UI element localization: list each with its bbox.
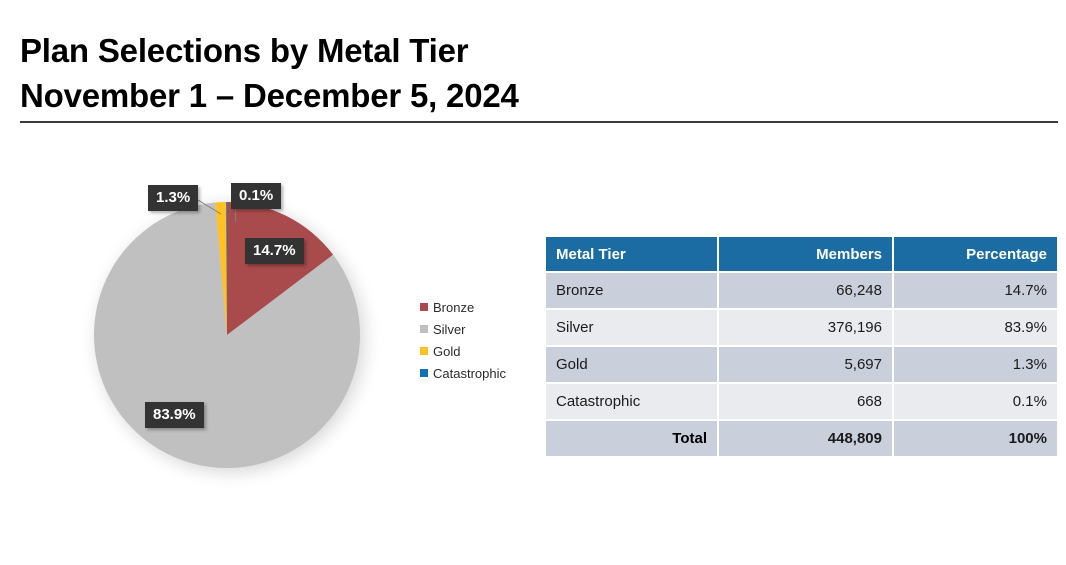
- pie-label-gold: 1.3%: [148, 185, 198, 211]
- table-header-metal-tier: Metal Tier: [546, 237, 719, 273]
- legend-item-catastrophic: Catastrophic: [420, 362, 530, 384]
- cell-members: 5,697: [719, 347, 894, 384]
- pie-chart: [80, 186, 380, 486]
- legend-swatch-bronze: [420, 303, 428, 311]
- cell-percentage: 83.9%: [894, 310, 1057, 347]
- pie-slice-group: [94, 202, 360, 468]
- cell-members: 66,248: [719, 273, 894, 310]
- legend-swatch-gold: [420, 347, 428, 355]
- legend-swatch-catastrophic: [420, 369, 428, 377]
- table-row-total: Total448,809100%: [546, 421, 1057, 456]
- cell-total-percentage: 100%: [894, 421, 1057, 456]
- cell-members: 668: [719, 384, 894, 421]
- table-row: Bronze66,24814.7%: [546, 273, 1057, 310]
- cell-total-label: Total: [546, 421, 719, 456]
- cell-metal-tier: Silver: [546, 310, 719, 347]
- metal-tier-table: Metal Tier Members Percentage Bronze66,2…: [546, 237, 1057, 456]
- legend-label-catastrophic: Catastrophic: [433, 366, 506, 381]
- legend-item-bronze: Bronze: [420, 296, 530, 318]
- pie-chart-svg: [80, 186, 380, 486]
- pie-label-catastrophic: 0.1%: [231, 183, 281, 209]
- table-row: Gold5,6971.3%: [546, 347, 1057, 384]
- legend-item-gold: Gold: [420, 340, 530, 362]
- cell-percentage: 14.7%: [894, 273, 1057, 310]
- cell-metal-tier: Gold: [546, 347, 719, 384]
- table-body: Bronze66,24814.7%Silver376,19683.9%Gold5…: [546, 273, 1057, 456]
- legend-label-silver: Silver: [433, 322, 466, 337]
- cell-members: 376,196: [719, 310, 894, 347]
- title-divider: [20, 121, 1058, 123]
- table-header-members: Members: [719, 237, 894, 273]
- chart-legend: Bronze Silver Gold Catastrophic: [420, 296, 530, 384]
- table-header-percentage: Percentage: [894, 237, 1057, 273]
- cell-percentage: 0.1%: [894, 384, 1057, 421]
- legend-label-gold: Gold: [433, 344, 460, 359]
- table-row: Catastrophic6680.1%: [546, 384, 1057, 421]
- pie-label-silver: 83.9%: [145, 402, 204, 428]
- table-row: Silver376,19683.9%: [546, 310, 1057, 347]
- page-title: Plan Selections by Metal Tier November 1…: [20, 28, 1058, 118]
- cell-total-members: 448,809: [719, 421, 894, 456]
- cell-percentage: 1.3%: [894, 347, 1057, 384]
- legend-item-silver: Silver: [420, 318, 530, 340]
- legend-label-bronze: Bronze: [433, 300, 474, 315]
- table-header-row: Metal Tier Members Percentage: [546, 237, 1057, 273]
- cell-metal-tier: Catastrophic: [546, 384, 719, 421]
- pie-label-bronze: 14.7%: [245, 238, 304, 264]
- cell-metal-tier: Bronze: [546, 273, 719, 310]
- legend-swatch-silver: [420, 325, 428, 333]
- title-line-2: November 1 – December 5, 2024: [20, 73, 1058, 118]
- title-line-1: Plan Selections by Metal Tier: [20, 28, 1058, 73]
